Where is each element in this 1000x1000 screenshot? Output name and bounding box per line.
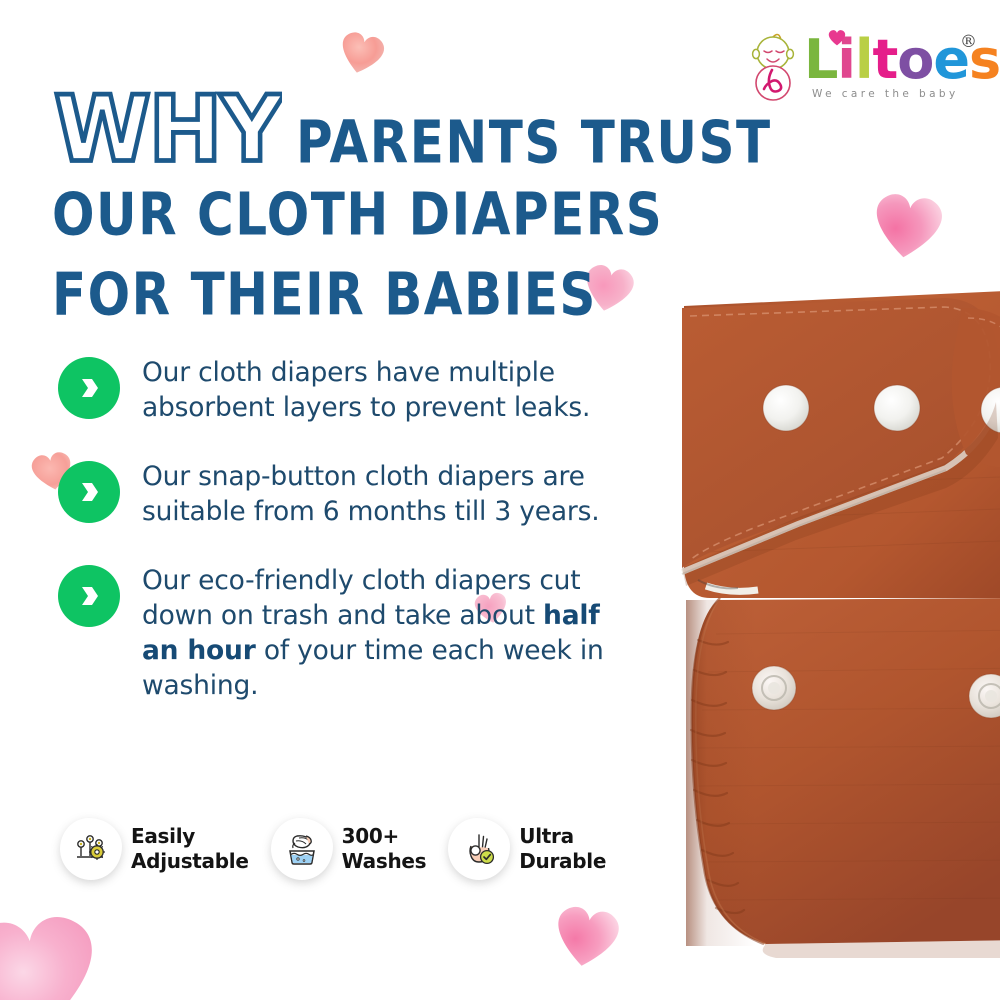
list-item: Our snap-button cloth diapers are suitab… <box>58 459 638 529</box>
headline-line2: OUR CLOTH DIAPERS <box>52 185 692 244</box>
baby-logo-icon <box>742 30 804 102</box>
poster-canvas: Liltoes We care the baby ® WHY PARENTS T… <box>0 0 1000 1000</box>
headline-line3: FOR THEIR BABIES <box>52 265 692 324</box>
feature-ultra-durable: Ultra Durable <box>448 818 606 880</box>
cloth-diaper-photo <box>646 268 1000 968</box>
list-item-text: Our eco-friendly cloth diapers cut down … <box>142 563 612 703</box>
list-item-text: Our cloth diapers have multiple absorben… <box>142 355 612 425</box>
feature-300-washes: 300+ Washes <box>271 818 427 880</box>
page-title: WHY PARENTS TRUST OUR CLOTH DIAPERS FOR … <box>52 80 692 324</box>
chevron-right-icon <box>58 357 120 419</box>
chevron-right-icon <box>58 461 120 523</box>
logo-letter-l: l <box>855 32 873 88</box>
benefits-list: Our cloth diapers have multiple absorben… <box>58 355 638 737</box>
feature-label: 300+ Washes <box>342 824 427 874</box>
feature-label: Easily Adjustable <box>131 824 249 874</box>
heart-right-upper-icon <box>861 177 956 272</box>
headline-line1-rest: PARENTS TRUST <box>296 113 772 172</box>
feature-label: Ultra Durable <box>519 824 606 874</box>
hand-wash-basin-icon <box>271 818 333 880</box>
list-item: Our eco-friendly cloth diapers cut down … <box>58 563 638 703</box>
gears-adjust-icon <box>60 818 122 880</box>
headline-why-outline: WHY <box>52 80 282 176</box>
logo-letter-t: t <box>872 32 897 88</box>
registered-trademark-icon: ® <box>960 32 977 52</box>
ok-hand-check-icon <box>448 818 510 880</box>
heart-bottom-center-icon <box>542 890 632 980</box>
chevron-right-icon <box>58 565 120 627</box>
list-item-text-before: Our eco-friendly cloth diapers cut down … <box>142 565 580 631</box>
brand-tagline: We care the baby <box>812 88 982 100</box>
feature-badges-row: Easily Adjustable 3 <box>60 818 606 880</box>
svg-text:WHY: WHY <box>54 80 282 176</box>
heart-dot-icon <box>826 26 848 46</box>
logo-letter-o: o <box>897 32 933 88</box>
brand-logo[interactable]: Liltoes We care the baby ® <box>742 28 982 114</box>
list-item-text: Our snap-button cloth diapers are suitab… <box>142 459 612 529</box>
list-item: Our cloth diapers have multiple absorben… <box>58 355 638 425</box>
heart-bottom-left-large-icon <box>0 889 115 1000</box>
feature-easily-adjustable: Easily Adjustable <box>60 818 249 880</box>
heart-top-center-icon <box>328 18 396 86</box>
